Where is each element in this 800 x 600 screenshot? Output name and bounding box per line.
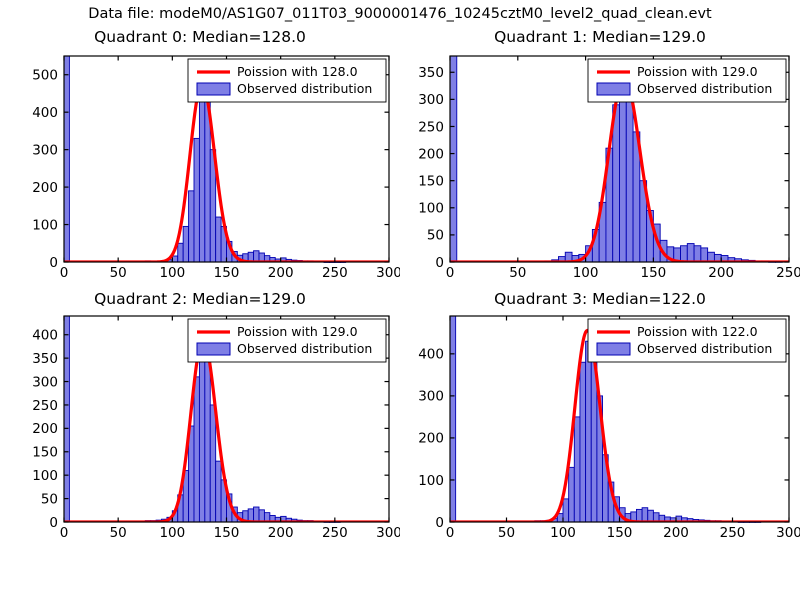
histogram-bar <box>648 510 654 522</box>
x-tick-label: 300 <box>376 265 400 281</box>
histogram-bar <box>248 509 253 522</box>
y-tick-label: 100 <box>418 201 444 217</box>
legend: Poission with 122.0Observed distribution <box>588 319 786 362</box>
y-tick-label: 0 <box>435 255 444 271</box>
quadrant-1-title: Quadrant 1: Median=129.0 <box>400 28 800 46</box>
y-tick-label: 300 <box>418 92 444 108</box>
legend-label-observed: Observed distribution <box>637 81 772 96</box>
quadrant-2-plot: 0501001502002503000501001502002503003504… <box>0 290 400 560</box>
y-tick-label: 50 <box>427 228 444 244</box>
quadrant-2-title: Quadrant 2: Median=129.0 <box>0 290 400 308</box>
histogram-bar <box>569 467 575 522</box>
legend-label-poisson: Poission with 129.0 <box>237 324 358 339</box>
x-tick-label: 0 <box>446 525 455 541</box>
histogram-bar <box>216 461 221 522</box>
histogram-bar <box>694 246 701 262</box>
legend-label-poisson: Poission with 122.0 <box>637 324 758 339</box>
subplot-quadrant-2: Quadrant 2: Median=129.00501001502002503… <box>0 290 400 560</box>
histogram-bar <box>620 83 627 262</box>
legend-swatch-observed <box>597 83 630 95</box>
y-tick-label: 150 <box>418 173 444 189</box>
y-tick-label: 200 <box>418 431 444 447</box>
x-tick-label: 300 <box>776 525 800 541</box>
x-tick-label: 250 <box>322 525 348 541</box>
x-tick-label: 150 <box>607 525 633 541</box>
histogram-bar <box>450 56 457 262</box>
quadrant-0-title: Quadrant 0: Median=128.0 <box>0 28 400 46</box>
histogram-bar <box>574 417 580 522</box>
histogram-bar <box>178 243 183 262</box>
legend-swatch-observed <box>597 343 630 355</box>
legend-label-observed: Observed distribution <box>637 341 772 356</box>
histogram-bar <box>189 191 194 262</box>
histogram-bar <box>636 509 642 522</box>
legend-swatch-observed <box>197 343 230 355</box>
histogram-bar <box>199 93 204 262</box>
y-tick-label: 500 <box>32 68 58 84</box>
x-tick-label: 100 <box>573 265 599 281</box>
legend-label-poisson: Poission with 129.0 <box>637 64 758 79</box>
histogram-bar <box>613 105 620 262</box>
x-tick-label: 50 <box>498 525 515 541</box>
histogram-bar <box>216 217 221 262</box>
histogram-bar <box>450 316 456 522</box>
y-tick-label: 100 <box>32 468 58 484</box>
x-tick-label: 0 <box>60 265 69 281</box>
subplot-quadrant-3: Quadrant 3: Median=122.00501001502002503… <box>400 290 800 560</box>
x-tick-label: 150 <box>214 265 240 281</box>
figure-canvas: Data file: modeM0/AS1G07_011T03_90000014… <box>0 0 800 600</box>
histogram-bar <box>580 362 586 522</box>
y-tick-label: 300 <box>32 142 58 158</box>
x-tick-label: 200 <box>268 525 294 541</box>
y-tick-label: 400 <box>32 328 58 344</box>
subplot-quadrant-1: Quadrant 1: Median=129.00501001502002500… <box>400 28 800 290</box>
y-tick-label: 350 <box>418 65 444 81</box>
histogram-bar <box>205 360 210 522</box>
x-tick-label: 200 <box>708 265 734 281</box>
histogram-bar <box>687 244 694 262</box>
histogram-bar <box>563 499 569 522</box>
x-tick-label: 150 <box>214 525 240 541</box>
histogram-bar <box>194 377 199 522</box>
histogram-bar <box>64 56 69 262</box>
x-tick-label: 50 <box>509 265 526 281</box>
x-tick-label: 300 <box>376 525 400 541</box>
y-tick-label: 350 <box>32 351 58 367</box>
legend: Poission with 128.0Observed distribution <box>188 59 386 102</box>
y-tick-label: 0 <box>49 255 58 271</box>
figure-title: Data file: modeM0/AS1G07_011T03_90000014… <box>0 6 800 22</box>
histogram-bar <box>172 256 177 262</box>
histogram-bar <box>199 353 204 522</box>
histogram-bar <box>642 508 648 522</box>
x-tick-label: 50 <box>110 265 127 281</box>
y-tick-label: 250 <box>32 398 58 414</box>
legend: Poission with 129.0Observed distribution <box>188 319 386 362</box>
y-tick-label: 250 <box>418 119 444 135</box>
legend-label-poisson: Poission with 128.0 <box>237 64 358 79</box>
y-tick-label: 400 <box>418 347 444 363</box>
y-tick-label: 100 <box>418 473 444 489</box>
subplot-quadrant-0: Quadrant 0: Median=128.00501001502002503… <box>0 28 400 290</box>
histogram-bar <box>586 341 592 522</box>
legend-swatch-observed <box>197 83 230 95</box>
histogram-bar <box>701 248 708 262</box>
y-tick-label: 150 <box>32 445 58 461</box>
x-tick-label: 0 <box>446 265 455 281</box>
y-tick-label: 400 <box>32 105 58 121</box>
x-tick-label: 250 <box>322 265 348 281</box>
quadrant-3-title: Quadrant 3: Median=122.0 <box>400 290 800 308</box>
histogram-bar <box>254 251 259 262</box>
quadrant-3-plot: 0501001502002503000100200300400Poission … <box>400 290 800 560</box>
y-tick-label: 200 <box>32 421 58 437</box>
histogram-bar <box>254 507 259 522</box>
x-tick-label: 0 <box>60 525 69 541</box>
histogram-bar <box>194 138 199 262</box>
y-tick-label: 300 <box>32 374 58 390</box>
quadrant-0-plot: 0501001502002503000100200300400500Poissi… <box>0 28 400 290</box>
x-tick-label: 250 <box>776 265 800 281</box>
legend-label-observed: Observed distribution <box>237 341 372 356</box>
legend-label-observed: Observed distribution <box>237 81 372 96</box>
legend: Poission with 129.0Observed distribution <box>588 59 786 102</box>
histogram-bar <box>210 405 215 522</box>
histogram-bar <box>681 246 688 262</box>
y-tick-label: 300 <box>418 389 444 405</box>
x-tick-label: 250 <box>720 525 746 541</box>
y-tick-label: 200 <box>418 146 444 162</box>
x-tick-label: 100 <box>159 265 185 281</box>
x-tick-label: 50 <box>110 525 127 541</box>
histogram-bar <box>183 226 188 262</box>
histogram-bar <box>626 97 633 262</box>
y-tick-label: 0 <box>435 515 444 531</box>
x-tick-label: 200 <box>268 265 294 281</box>
x-tick-label: 150 <box>641 265 667 281</box>
y-tick-label: 0 <box>49 515 58 531</box>
y-tick-label: 100 <box>32 217 58 233</box>
histogram-bar <box>64 316 69 522</box>
x-tick-label: 200 <box>663 525 689 541</box>
histogram-bar <box>259 510 264 522</box>
y-tick-label: 50 <box>41 491 58 507</box>
x-tick-label: 100 <box>550 525 576 541</box>
quadrant-1-plot: 050100150200250050100150200250300350Pois… <box>400 28 800 290</box>
x-tick-label: 100 <box>159 525 185 541</box>
y-tick-label: 200 <box>32 180 58 196</box>
